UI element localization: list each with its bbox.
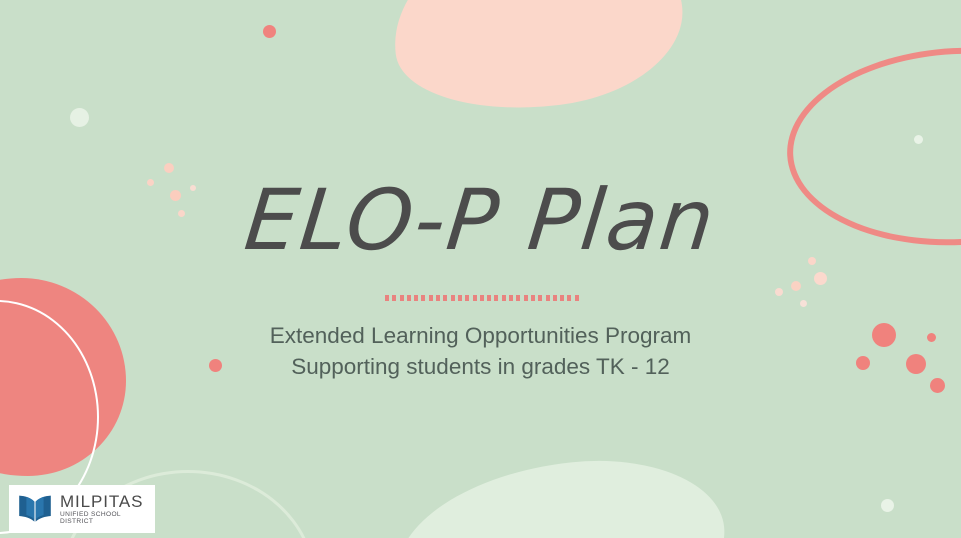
divider-dot	[575, 295, 579, 301]
divider-dot	[458, 295, 462, 301]
divider-dot	[473, 295, 477, 301]
page-title: ELO-P Plan	[0, 178, 961, 262]
divider-dot	[502, 295, 506, 301]
divider-dot	[494, 295, 498, 301]
logo-tagline: UNIFIED SCHOOL DISTRICT	[60, 512, 155, 525]
divider-dot	[524, 295, 528, 301]
divider-dot	[407, 295, 411, 301]
divider-dot	[553, 295, 557, 301]
dotted-divider	[385, 295, 579, 302]
subtitle-block: Extended Learning Opportunities Program …	[0, 320, 961, 382]
divider-dot	[516, 295, 520, 301]
slide-canvas: ELO-P Plan Extended Learning Opportuniti…	[0, 0, 961, 538]
divider-dot	[392, 295, 396, 301]
divider-dot	[560, 295, 564, 301]
divider-dot	[421, 295, 425, 301]
divider-dot	[429, 295, 433, 301]
logo-text-block: MILPITAS UNIFIED SCHOOL DISTRICT	[60, 493, 155, 525]
divider-dot	[465, 295, 469, 301]
divider-dot	[567, 295, 571, 301]
logo-district-name: MILPITAS	[60, 493, 155, 510]
divider-dot	[531, 295, 535, 301]
subtitle-line-1: Extended Learning Opportunities Program	[0, 320, 961, 351]
divider-dot	[509, 295, 513, 301]
divider-dot	[385, 295, 389, 301]
slide-content: ELO-P Plan Extended Learning Opportuniti…	[0, 0, 961, 538]
divider-dot	[487, 295, 491, 301]
divider-dot	[546, 295, 550, 301]
divider-dot	[400, 295, 404, 301]
open-book-icon	[17, 495, 53, 523]
district-logo: MILPITAS UNIFIED SCHOOL DISTRICT	[9, 485, 155, 533]
divider-dot	[451, 295, 455, 301]
divider-dot	[480, 295, 484, 301]
divider-dot	[414, 295, 418, 301]
divider-dot	[443, 295, 447, 301]
subtitle-line-2: Supporting students in grades TK - 12	[0, 351, 961, 382]
divider-dot	[436, 295, 440, 301]
divider-dot	[538, 295, 542, 301]
